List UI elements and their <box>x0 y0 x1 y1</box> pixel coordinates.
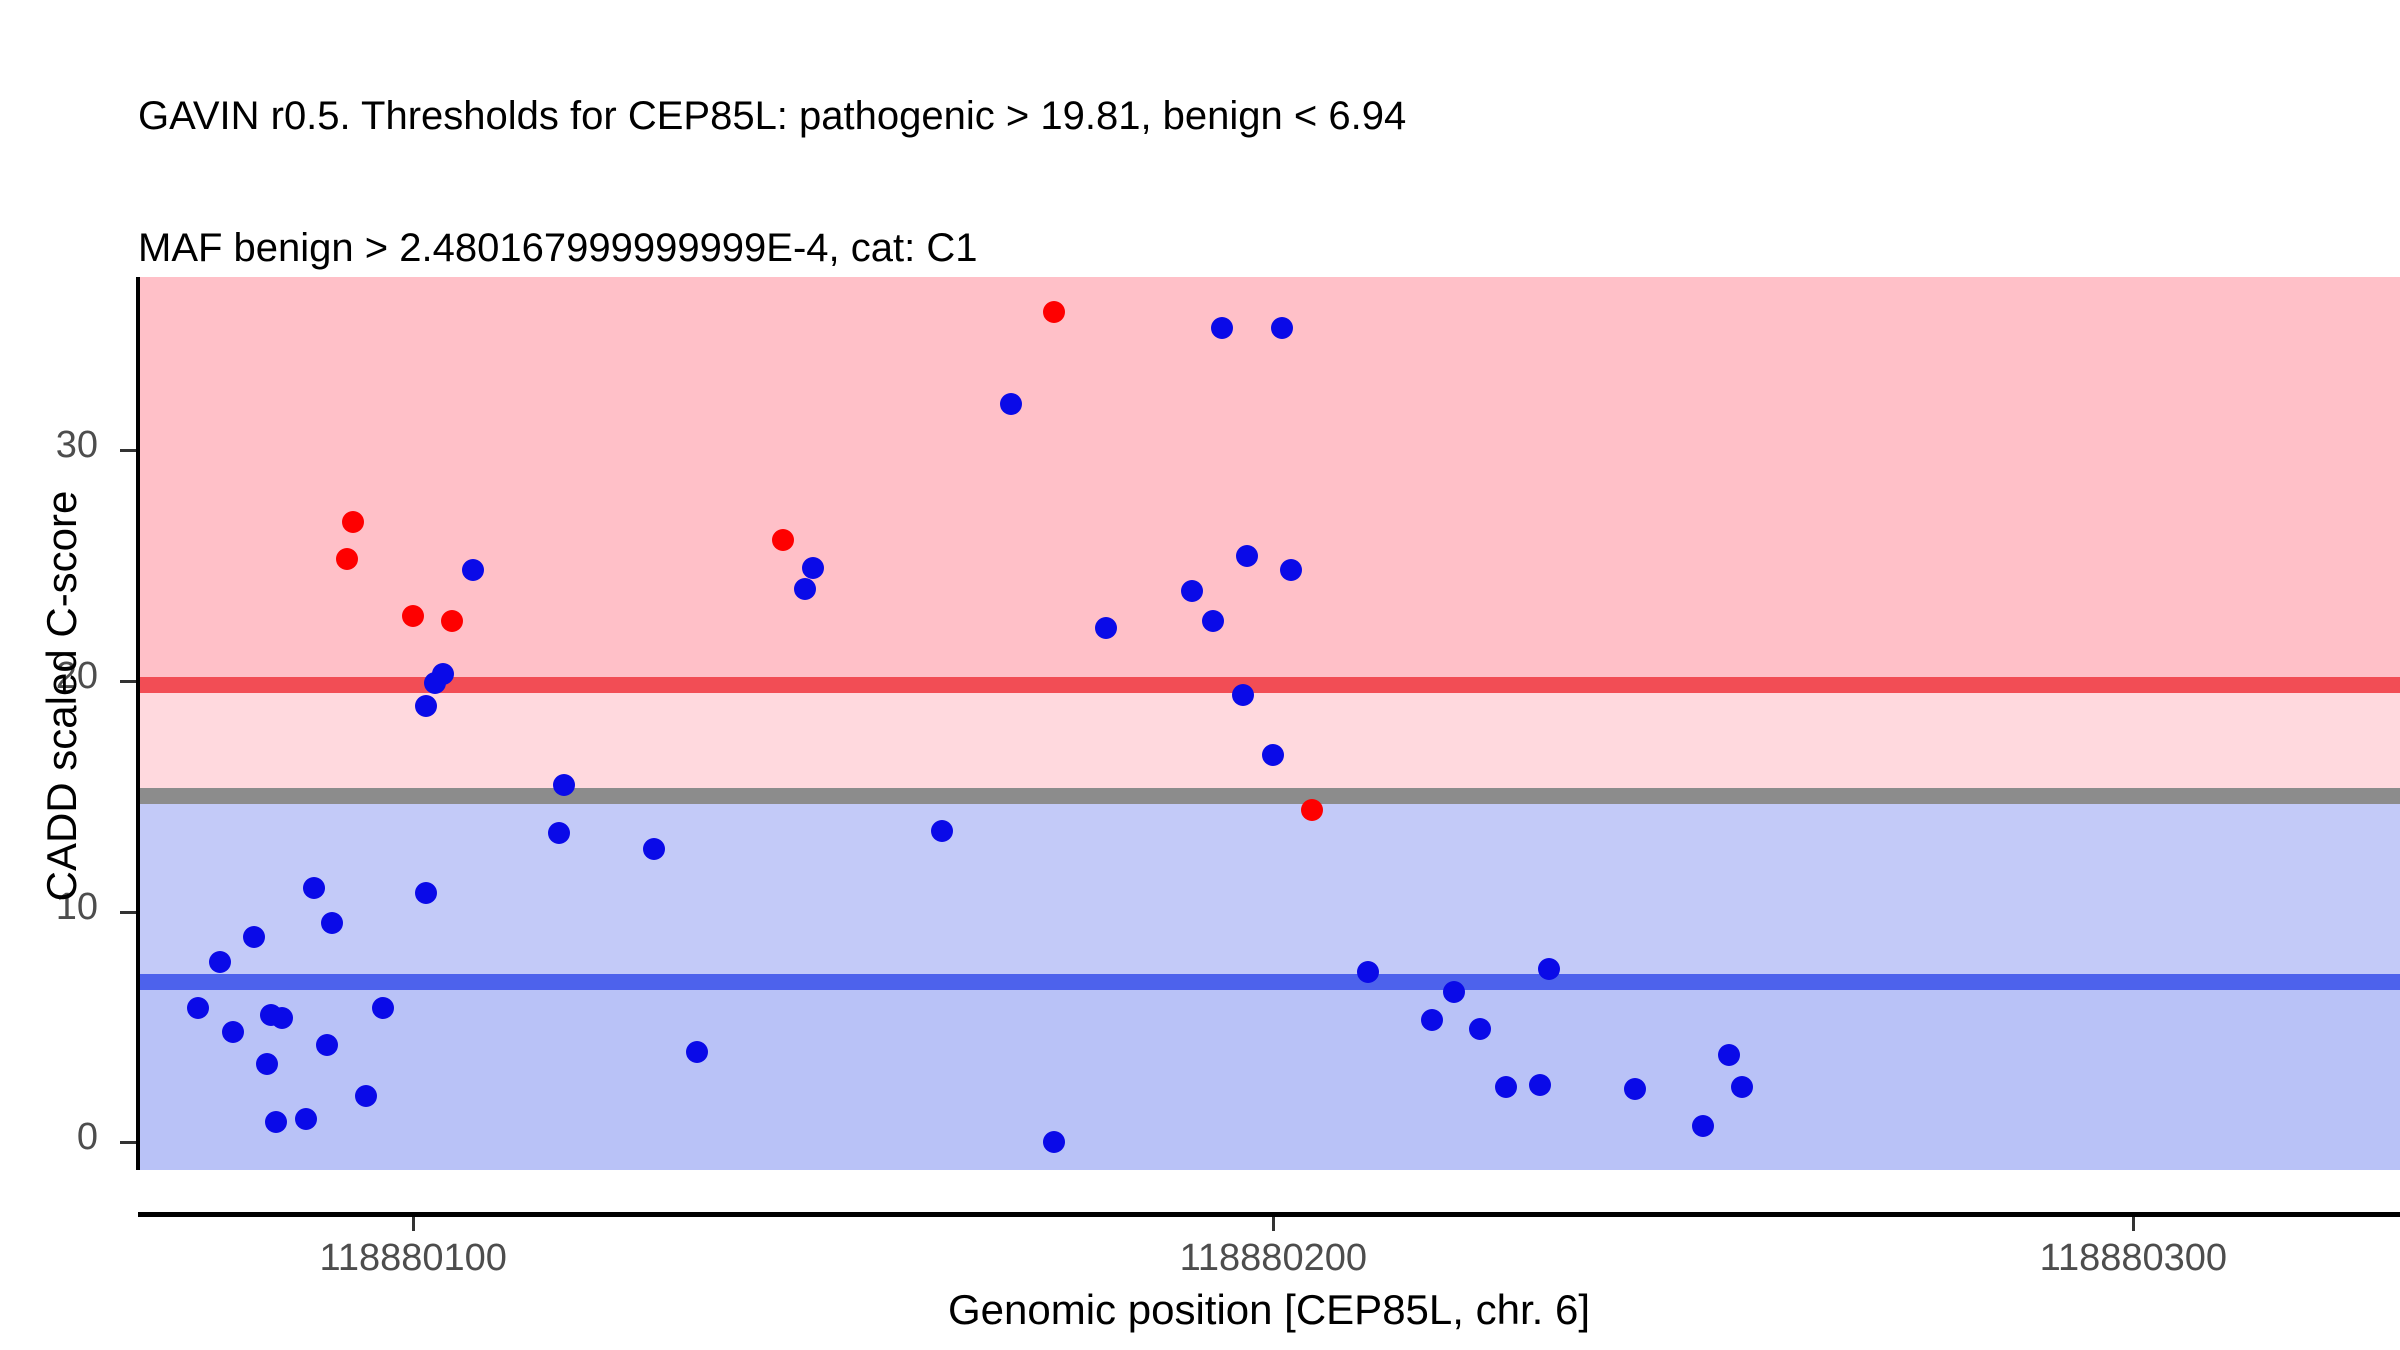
x-tick-label: 118880100 <box>253 1237 573 1280</box>
gnomad-variant-point <box>265 1111 287 1133</box>
x-tick-label: 118880300 <box>1973 1237 2293 1280</box>
gnomad-variant-point <box>256 1053 278 1075</box>
gnomad-variant-point <box>553 774 575 796</box>
gnomad-variant-point <box>243 926 265 948</box>
gnomad-variant-point <box>295 1108 317 1130</box>
gnomad-variant-point <box>1624 1078 1646 1100</box>
y-axis-title: CADD scaled C-score <box>38 316 86 1076</box>
gnomad-variant-point <box>794 578 816 600</box>
gnomad-variant-point <box>1271 317 1293 339</box>
gnomad-variant-point <box>1495 1076 1517 1098</box>
gnomad-variant-point <box>1262 744 1284 766</box>
gnomad-variant-point <box>1357 961 1379 983</box>
pathogenic-threshold-line <box>138 677 2400 693</box>
gnomad-variant-point <box>209 951 231 973</box>
gnomad-variant-point <box>1211 317 1233 339</box>
gnomad-variant-point <box>1095 617 1117 639</box>
clinvar-pathogenic-point <box>1043 301 1065 323</box>
band-pathogenic <box>138 277 2400 685</box>
x-tick-mark <box>2132 1217 2135 1231</box>
y-tick-mark <box>120 1141 136 1144</box>
gnomad-variant-point <box>1718 1044 1740 1066</box>
band-benign-upper <box>138 796 2400 982</box>
plot-area <box>138 277 2400 1170</box>
y-tick-mark <box>120 449 136 452</box>
gnomad-variant-point <box>1529 1074 1551 1096</box>
gnomad-variant-point <box>1181 580 1203 602</box>
gnomad-variant-point <box>1000 393 1022 415</box>
y-tick-label: 0 <box>0 1116 98 1159</box>
clinvar-pathogenic-point <box>1301 799 1323 821</box>
chart-title-line-1: GAVIN r0.5. Thresholds for CEP85L: patho… <box>138 94 2338 138</box>
gnomad-variant-point <box>931 820 953 842</box>
clinvar-pathogenic-point <box>342 511 364 533</box>
scatter-chart: GAVIN r0.5. Thresholds for CEP85L: patho… <box>0 0 2400 1350</box>
x-tick-mark <box>412 1217 415 1231</box>
x-axis-line <box>138 1212 2400 1217</box>
benign-threshold-line <box>138 974 2400 990</box>
gnomad-variant-point <box>271 1007 293 1029</box>
gnomad-variant-point <box>1202 610 1224 632</box>
clinvar-pathogenic-point <box>336 548 358 570</box>
band-benign-lower <box>138 982 2400 1170</box>
fallback-threshold-line <box>138 788 2400 804</box>
x-axis-title: Genomic position [CEP85L, chr. 6] <box>138 1286 2400 1334</box>
gnomad-variant-point <box>424 672 446 694</box>
y-axis-line <box>136 277 140 1170</box>
clinvar-pathogenic-point <box>441 610 463 632</box>
gnomad-variant-point <box>1731 1076 1753 1098</box>
chart-title-line-2: MAF benign > 2.480167999999999E-4, cat: … <box>138 226 2338 270</box>
gnomad-variant-point <box>1232 684 1254 706</box>
gnomad-variant-point <box>355 1085 377 1107</box>
gnomad-variant-point <box>1469 1018 1491 1040</box>
gnomad-variant-point <box>321 912 343 934</box>
x-tick-label: 118880200 <box>1113 1237 1433 1280</box>
gnomad-variant-point <box>222 1021 244 1043</box>
band-inconclusive <box>138 685 2400 796</box>
gnomad-variant-point <box>1538 958 1560 980</box>
y-tick-mark <box>120 680 136 683</box>
gnomad-variant-point <box>802 557 824 579</box>
gnomad-variant-point <box>1280 559 1302 581</box>
clinvar-pathogenic-point <box>772 529 794 551</box>
x-tick-mark <box>1272 1217 1275 1231</box>
y-tick-mark <box>120 911 136 914</box>
